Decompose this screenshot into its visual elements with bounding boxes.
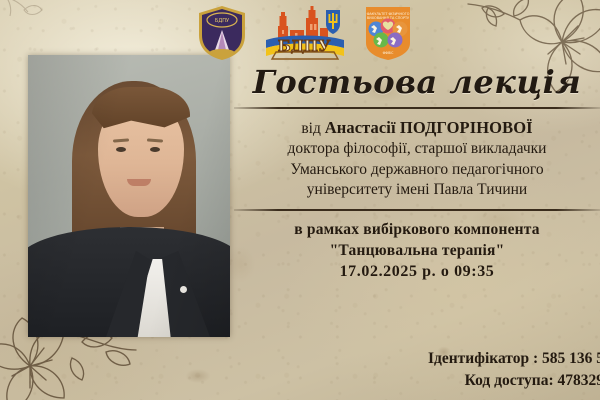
announcement-text-block: Гостьова лекція від Анастасії ПОДГОРІНОВ… <box>234 66 600 283</box>
logo-row: БДПУ <box>196 4 414 62</box>
berdyansk-shield-emblem-icon: БДПУ <box>196 4 248 62</box>
svg-text:БДПУ: БДПУ <box>278 37 331 55</box>
component-intro: в рамках вибіркового компонента <box>234 220 600 241</box>
sport-faculty-logo-icon: ФАКУЛЬТЕТ ФІЗИЧНОГО ВИХОВАННЯ ТА СПОРТУ … <box>362 4 414 62</box>
access-code-label: Код доступа: <box>465 372 554 389</box>
lecturer-line: від Анастасії ПОДГОРІНОВОЇ <box>234 117 600 140</box>
access-code-value: 478329 <box>558 372 600 389</box>
divider-bottom <box>234 209 600 211</box>
affiliation-line-1: доктора філософії, старшої викладачки <box>234 139 600 160</box>
lecturer-name: Анастасії ПОДГОРІНОВОЇ <box>325 118 533 137</box>
divider-top <box>234 107 600 109</box>
floral-corner-top-left-icon <box>0 0 74 60</box>
identifier-value: 585 136 5 <box>542 350 600 367</box>
svg-text:БДПУ: БДПУ <box>215 18 229 24</box>
page-title: Гостьова лекція <box>234 66 600 100</box>
identifier-label: Ідентифікатор : <box>428 350 538 367</box>
bdpu-university-logo-icon: БДПУ <box>266 4 344 60</box>
identifier-row: Ідентифікатор : 585 136 5 <box>428 348 600 370</box>
lecturer-photo <box>28 55 230 337</box>
svg-text:ФФВіС: ФФВіС <box>383 51 395 55</box>
component-name: "Танцювальна терапія" <box>234 241 600 262</box>
course-block: в рамках вибіркового компонента "Танцюва… <box>234 220 600 282</box>
access-code-row: Код доступа: 478329 <box>428 370 600 392</box>
event-datetime: 17.02.2025 р. о 09:35 <box>234 261 600 282</box>
lecture-announcement-poster: БДПУ <box>0 0 600 400</box>
meeting-credentials: Ідентифікатор : 585 136 5 Код доступа: 4… <box>428 348 600 392</box>
affiliation-line-3: університету імені Павла Тичини <box>234 180 600 201</box>
lecturer-prefix: від <box>301 120 321 137</box>
affiliation-line-2: Уманського державного педагогічного <box>234 160 600 181</box>
